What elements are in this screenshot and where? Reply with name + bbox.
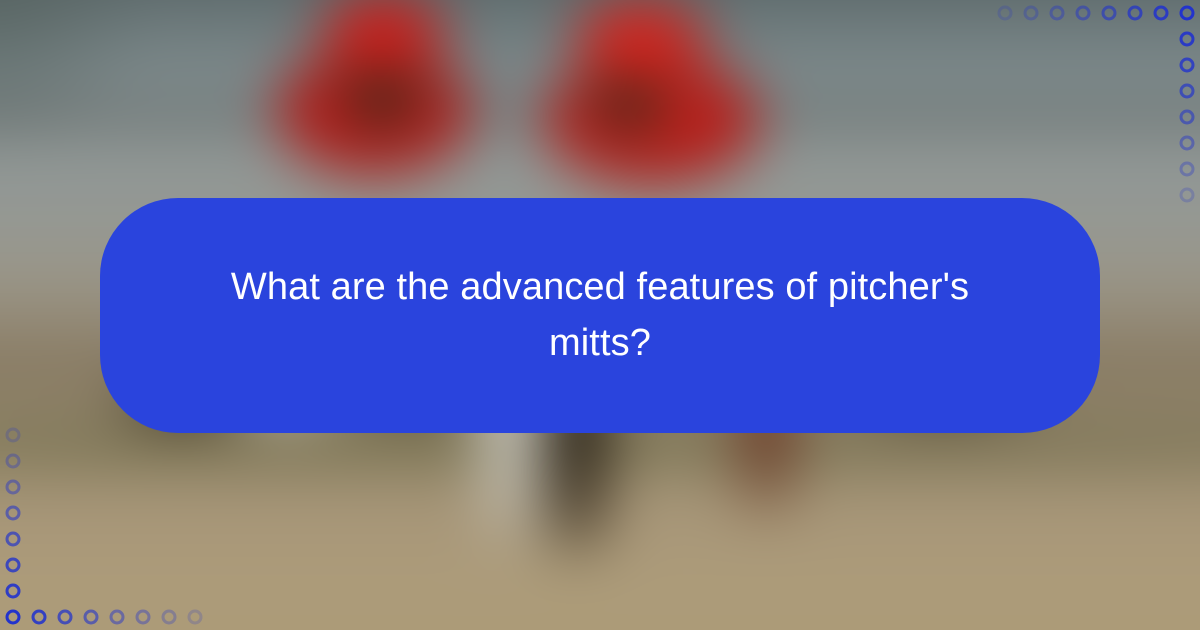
question-text: What are the advanced features of pitche… <box>220 260 980 370</box>
poster-canvas: What are the advanced features of pitche… <box>0 0 1200 630</box>
question-card: What are the advanced features of pitche… <box>100 198 1100 433</box>
